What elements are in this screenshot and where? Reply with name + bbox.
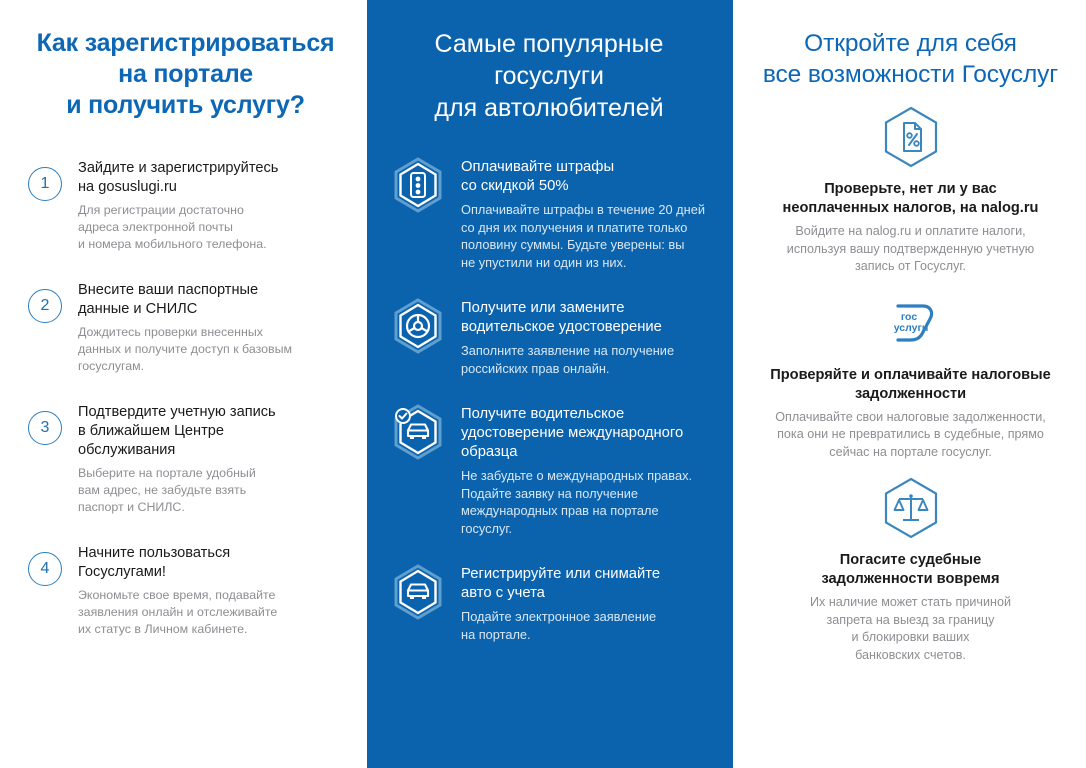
list-item: Оплачивайте штрафысо скидкой 50% Оплачив… [389, 154, 709, 271]
steps-list: 1 Зайдите и зарегистрируйтесьна gosuslug… [22, 157, 349, 638]
service-title: Регистрируйте или снимайтеавто с учета [461, 565, 709, 603]
step-number-badge: 1 [28, 167, 62, 201]
gosuslugi-logo-icon: гос услуги [878, 290, 944, 356]
column-popular-services: Самые популярныегосуслугидля автолюбител… [367, 0, 733, 768]
service-title: Получите водительскоеудостоверение между… [461, 405, 709, 462]
opportunity-description: Оплачивайте свои налоговые задолженности… [743, 409, 1078, 462]
scales-of-justice-icon [878, 475, 944, 541]
traffic-light-icon [389, 156, 447, 214]
infographic-page: Как зарегистрироватьсяна порталеи получи… [0, 0, 1086, 768]
step-description: Для регистрации достаточноадреса электро… [78, 202, 349, 253]
list-item: Проверьте, нет ли у васнеоплаченных нало… [743, 104, 1078, 276]
list-item: гос услуги Проверяйте и оплачивайте нало… [743, 290, 1078, 462]
step-title: Внесите ваши паспортныеданные и СНИЛС [78, 281, 349, 319]
opportunity-title: Проверяйте и оплачивайте налоговыезадолж… [743, 366, 1078, 404]
service-title: Получите или заменитеводительское удосто… [461, 299, 709, 337]
service-body: Получите водительскоеудостоверение между… [461, 401, 709, 537]
list-item: 1 Зайдите и зарегистрируйтесьна gosuslug… [22, 157, 349, 253]
service-description: Не забудьте о международных правах.Подай… [461, 467, 709, 537]
steering-wheel-icon [389, 297, 447, 355]
opportunities-list: Проверьте, нет ли у васнеоплаченных нало… [743, 104, 1078, 664]
step-title: Зайдите и зарегистрируйтесьна gosuslugi.… [78, 159, 349, 197]
popular-services-list: Оплачивайте штрафысо скидкой 50% Оплачив… [389, 154, 709, 643]
step-body: Внесите ваши паспортныеданные и СНИЛС До… [78, 279, 349, 375]
step-body: Зайдите и зарегистрируйтесьна gosuslugi.… [78, 157, 349, 253]
step-body: Начните пользоватьсяГосуслугами! Экономь… [78, 542, 349, 638]
car-icon [389, 563, 447, 621]
column-opportunities: Откройте для себявсе возможности Госуслу… [733, 0, 1086, 768]
step-title: Подтвердите учетную записьв ближайшем Це… [78, 403, 349, 460]
logo-line-2: услуги [893, 322, 928, 334]
list-item: 4 Начните пользоватьсяГосуслугами! Эконо… [22, 542, 349, 638]
opportunity-title: Проверьте, нет ли у васнеоплаченных нало… [743, 180, 1078, 218]
car-verified-icon [389, 403, 447, 461]
service-description: Оплачивайте штрафы в течение 20 днейсо д… [461, 201, 709, 271]
service-body: Получите или заменитеводительское удосто… [461, 295, 709, 377]
opportunity-title: Погасите судебныезадолженности вовремя [743, 551, 1078, 589]
step-description: Дождитесь проверки внесенныхданных и пол… [78, 324, 349, 375]
document-percent-icon [878, 104, 944, 170]
service-description: Заполните заявление на получениероссийск… [461, 342, 709, 377]
right-column-heading: Откройте для себявсе возможности Госуслу… [743, 28, 1078, 90]
list-item: Получите водительскоеудостоверение между… [389, 401, 709, 537]
list-item: 2 Внесите ваши паспортныеданные и СНИЛС … [22, 279, 349, 375]
service-title: Оплачивайте штрафысо скидкой 50% [461, 158, 709, 196]
list-item: Получите или заменитеводительское удосто… [389, 295, 709, 377]
step-number-badge: 2 [28, 289, 62, 323]
column-registration-steps: Как зарегистрироватьсяна порталеи получи… [0, 0, 367, 768]
left-column-heading: Как зарегистрироватьсяна порталеи получи… [22, 28, 349, 121]
step-body: Подтвердите учетную записьв ближайшем Це… [78, 401, 349, 516]
opportunity-description: Их наличие может стать причинойзапрета н… [743, 594, 1078, 664]
list-item: Регистрируйте или снимайтеавто с учета П… [389, 561, 709, 643]
step-number-badge: 4 [28, 552, 62, 586]
step-description: Выберите на портале удобныйвам адрес, не… [78, 465, 349, 516]
service-body: Оплачивайте штрафысо скидкой 50% Оплачив… [461, 154, 709, 271]
list-item: Погасите судебныезадолженности вовремя И… [743, 475, 1078, 664]
service-body: Регистрируйте или снимайтеавто с учета П… [461, 561, 709, 643]
opportunity-description: Войдите на nalog.ru и оплатите налоги,ис… [743, 223, 1078, 276]
service-description: Подайте электронное заявлениена портале. [461, 608, 709, 643]
step-title: Начните пользоватьсяГосуслугами! [78, 544, 349, 582]
step-number-badge: 3 [28, 411, 62, 445]
step-description: Экономьте свое время, подавайтезаявления… [78, 587, 349, 638]
list-item: 3 Подтвердите учетную записьв ближайшем … [22, 401, 349, 516]
middle-column-heading: Самые популярныегосуслугидля автолюбител… [389, 28, 709, 124]
